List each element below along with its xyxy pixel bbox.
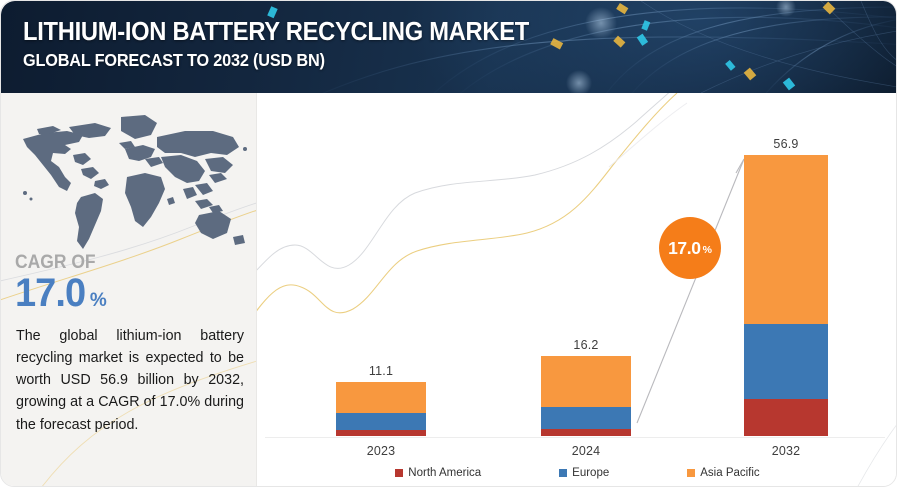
sidebar-panel: CAGR OF 17.0 % The global lithium-ion ba… — [1, 93, 257, 487]
bar-segment-north-america[interactable] — [336, 430, 426, 436]
axis-label-2032: 2032 — [744, 444, 828, 458]
cagr-callout: CAGR OF 17.0 % — [15, 253, 107, 313]
bar-segment-north-america[interactable] — [541, 429, 631, 436]
bar-segment-north-america[interactable] — [744, 399, 828, 436]
bar-segment-asia-pacific[interactable] — [336, 382, 426, 413]
bar-stack — [541, 356, 631, 436]
bar-segment-europe[interactable] — [336, 413, 426, 430]
page-title: LITHIUM-ION BATTERY RECYCLING MARKET — [23, 18, 529, 46]
legend-swatch-europe — [559, 469, 567, 477]
cagr-percent-sign: % — [90, 291, 107, 310]
legend-label-asia-pacific: Asia Pacific — [700, 467, 759, 479]
infographic-root: LITHIUM-ION BATTERY RECYCLING MARKET GLO… — [0, 0, 897, 487]
cagr-label: CAGR OF — [15, 253, 99, 272]
cagr-value: 17.0 — [15, 273, 85, 313]
header-banner: LITHIUM-ION BATTERY RECYCLING MARKET GLO… — [1, 1, 897, 93]
axis-label-2024: 2024 — [541, 444, 631, 458]
bar-total-label: 56.9 — [744, 137, 828, 151]
cagr-value-row: 17.0 % — [15, 273, 107, 313]
legend-label-north-america: North America — [408, 467, 481, 479]
growth-arrow-icon — [637, 159, 751, 423]
bar-stack — [744, 155, 828, 436]
header-text-group: LITHIUM-ION BATTERY RECYCLING MARKET GLO… — [23, 18, 567, 71]
bar-segment-asia-pacific[interactable] — [541, 356, 631, 407]
chart-panel: 11.1 2023 16.2 2024 56.9 — [257, 93, 897, 487]
world-map-icon — [9, 109, 249, 259]
legend-label-europe: Europe — [572, 467, 609, 479]
bar-total-label: 16.2 — [541, 338, 631, 352]
cagr-bubble-value: 17.0 — [668, 238, 700, 259]
bar-column-2032[interactable]: 56.9 2032 — [744, 93, 828, 487]
bar-segment-asia-pacific[interactable] — [744, 155, 828, 324]
page-subtitle: GLOBAL FORECAST TO 2032 (USD BN) — [23, 50, 529, 71]
bar-stack — [336, 382, 426, 436]
sidebar-description: The global lithium-ion battery recycling… — [16, 325, 244, 436]
cagr-bubble-badge[interactable]: 17.0 % — [659, 217, 721, 279]
legend-swatch-north-america — [395, 469, 403, 477]
cagr-bubble-percent: % — [703, 244, 712, 256]
bar-column-2023[interactable]: 11.1 2023 — [336, 93, 426, 487]
bar-segment-europe[interactable] — [541, 407, 631, 429]
axis-label-2023: 2023 — [336, 444, 426, 458]
legend-item-asia-pacific[interactable]: Asia Pacific — [687, 467, 759, 479]
legend-item-north-america[interactable]: North America — [395, 467, 481, 479]
legend-item-europe[interactable]: Europe — [559, 467, 609, 479]
bar-total-label: 11.1 — [336, 364, 426, 378]
legend-swatch-asia-pacific — [687, 469, 695, 477]
chart-legend: North America Europe Asia Pacific — [257, 467, 897, 479]
bar-column-2024[interactable]: 16.2 2024 — [541, 93, 631, 487]
bar-segment-europe[interactable] — [744, 324, 828, 399]
